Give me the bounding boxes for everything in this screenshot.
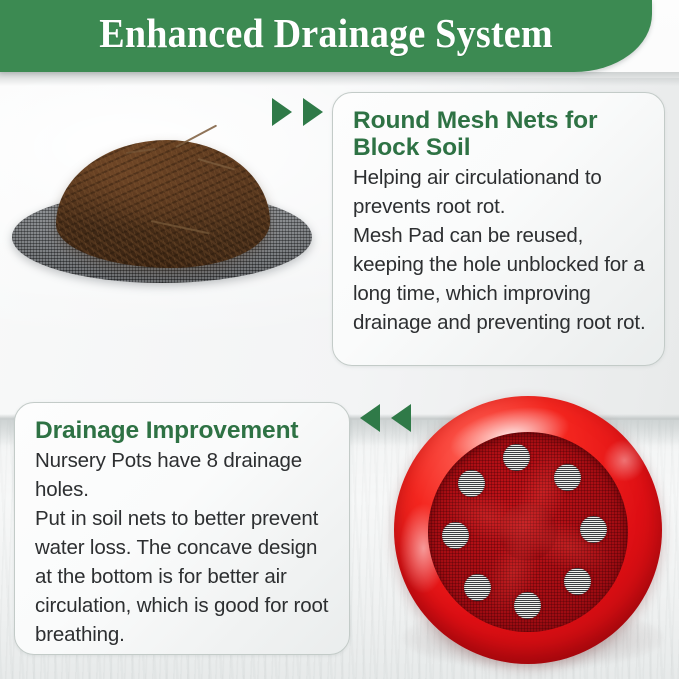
drainage-hole: [554, 464, 581, 491]
page-title: Enhanced Drainage System: [23, 9, 629, 57]
drainage-hole: [514, 592, 541, 619]
triangle-right-icon: [303, 98, 323, 126]
drainage-hole: [503, 444, 530, 471]
drainage-hole: [580, 516, 607, 543]
drainage-hole: [458, 470, 485, 497]
drainage-hole: [564, 568, 591, 595]
info-card-round-mesh-nets: Round Mesh Nets for Block Soil Helping a…: [332, 92, 665, 366]
drainage-hole: [442, 522, 469, 549]
card-title-drainage-improvement: Drainage Improvement: [35, 417, 333, 444]
banner-drop-shadow: [0, 72, 679, 86]
card-title-round-mesh-nets: Round Mesh Nets for Block Soil: [353, 107, 648, 161]
triangle-left-icon: [360, 404, 380, 432]
soil-on-mesh-image: [0, 86, 330, 386]
card-body-drainage-improvement: Nursery Pots have 8 drainage holes. Put …: [35, 446, 333, 649]
pot-base-mesh: [428, 432, 628, 632]
header-banner: Enhanced Drainage System: [0, 0, 652, 72]
product-infographic: Enhanced Drainage System Round Mesh Nets…: [0, 0, 679, 679]
soil-pile: [56, 140, 270, 268]
triangle-left-icon: [391, 404, 411, 432]
pointer-arrows-right: [272, 98, 323, 126]
triangle-right-icon: [272, 98, 292, 126]
soil-texture: [56, 140, 270, 268]
pot-body: [394, 396, 662, 664]
nursery-pot-image: [392, 392, 679, 679]
drainage-hole: [464, 574, 491, 601]
info-card-drainage-improvement: Drainage Improvement Nursery Pots have 8…: [14, 402, 350, 655]
pointer-arrows-left: [360, 404, 411, 432]
card-body-round-mesh-nets: Helping air circulationand to prevents r…: [353, 163, 648, 337]
